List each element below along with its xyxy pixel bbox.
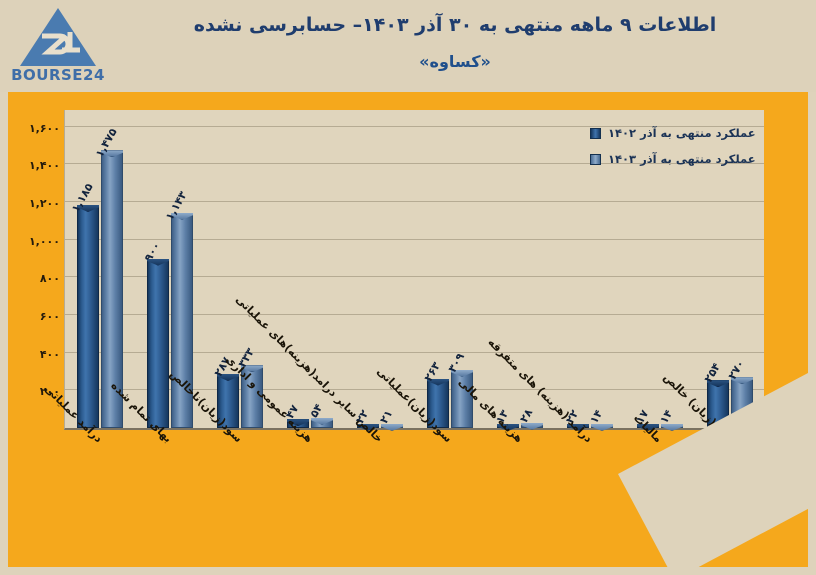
legend-label: عملکرد منتهی به آذر ۱۴۰۲: [608, 126, 756, 140]
bar-series-1403: ۱۴: [661, 424, 683, 428]
bar-series-1402: ۹۰۰: [147, 259, 169, 428]
bar-cap: [661, 424, 683, 431]
y-axis-tick-label: ۶۰۰: [14, 310, 60, 323]
legend-item[interactable]: عملکرد منتهی به آذر ۱۴۰۲: [590, 120, 790, 146]
bar-series-1403: ۲۸: [521, 423, 543, 428]
y-axis-tick-label: ۸۰۰: [14, 272, 60, 285]
y-axis-tick-label: ۱,۴۰۰: [14, 159, 60, 172]
legend-swatch-icon: [590, 128, 601, 139]
chart-screenshot: BOURSE24 اطلاعات ۹ ماهه منتهی به ۳۰ آذر …: [0, 0, 816, 575]
header: BOURSE24 اطلاعات ۹ ماهه منتهی به ۳۰ آذر …: [0, 0, 816, 92]
bar-series-1402: ۱,۱۸۵: [77, 205, 99, 428]
bar-series-1403: ۵۴: [311, 418, 333, 428]
bourse24-logo: BOURSE24: [10, 6, 106, 86]
bar-body: [77, 205, 99, 428]
bar-cap: [381, 424, 403, 431]
y-axis-tick-label: ۱,۶۰۰: [14, 122, 60, 135]
bar-cap: [521, 423, 543, 430]
chart-legend: عملکرد منتهی به آذر ۱۴۰۲عملکرد منتهی به …: [590, 120, 790, 172]
bar-series-1403: ۲۱: [381, 424, 403, 428]
page-title: اطلاعات ۹ ماهه منتهی به ۳۰ آذر ۱۴۰۳– حسا…: [110, 14, 800, 36]
y-axis-tick-label: ۱,۲۰۰: [14, 197, 60, 210]
logo-wordmark: BOURSE24: [10, 66, 106, 84]
page-subtitle: «کساوه»: [110, 52, 800, 71]
legend-swatch-icon: [590, 154, 601, 165]
y-axis-tick-label: ۴۰۰: [14, 348, 60, 361]
bar-body: [147, 259, 169, 428]
legend-label: عملکرد منتهی به آذر ۱۴۰۳: [608, 152, 756, 166]
chart-panel: ۱,۱۸۵۱,۴۷۵۹۰۰۱,۱۴۳۲۸۷۳۳۳۴۷۵۴۲۲۲۱۲۶۳۳۰۹۱۳…: [8, 92, 808, 567]
bourse24-triangle-logo-icon: [18, 6, 98, 68]
legend-item[interactable]: عملکرد منتهی به آذر ۱۴۰۳: [590, 146, 790, 172]
y-axis-tick-label: ۱,۰۰۰: [14, 235, 60, 248]
bar-cap: [591, 424, 613, 431]
bar-series-1403: ۱۴: [591, 424, 613, 428]
